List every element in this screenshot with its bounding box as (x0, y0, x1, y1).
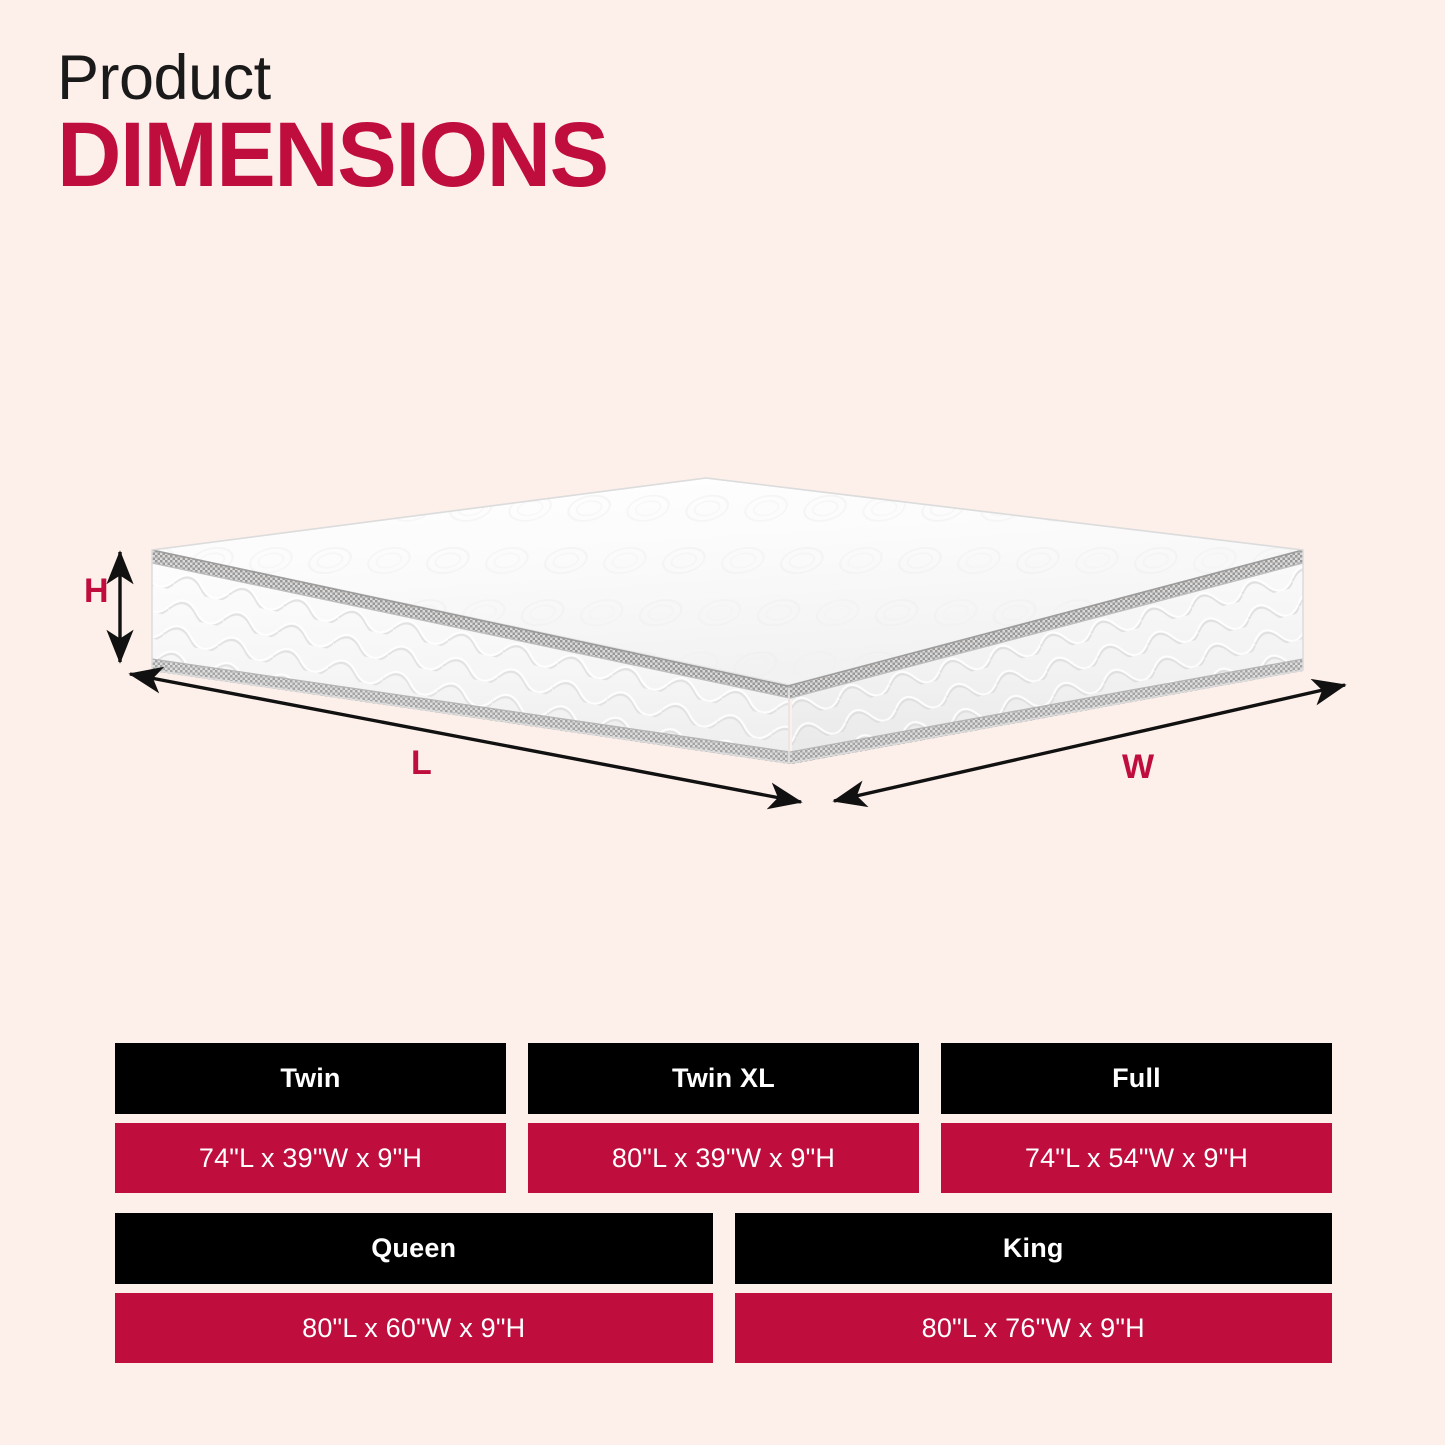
size-row-2: Queen 80"L x 60"W x 9"H King 80"L x 76"W… (115, 1213, 1332, 1363)
dimension-label-width: W (1122, 748, 1155, 787)
size-card-dimensions: 74"L x 39"W x 9"H (115, 1123, 506, 1193)
size-card-name: Twin (115, 1043, 506, 1114)
size-chart: Twin 74"L x 39"W x 9"H Twin XL 80"L x 39… (115, 1043, 1332, 1363)
size-card-king[interactable]: King 80"L x 76"W x 9"H (735, 1213, 1333, 1363)
mattress-illustration (0, 430, 1445, 870)
size-card-twin[interactable]: Twin 74"L x 39"W x 9"H (115, 1043, 506, 1193)
size-row-1: Twin 74"L x 39"W x 9"H Twin XL 80"L x 39… (115, 1043, 1332, 1193)
dimension-label-length: L (411, 744, 432, 783)
title-line-dimensions: DIMENSIONS (57, 108, 608, 202)
size-card-dimensions: 80"L x 76"W x 9"H (735, 1293, 1333, 1363)
page-title: Product DIMENSIONS (57, 44, 625, 202)
size-card-name: Full (941, 1043, 1332, 1114)
title-line-product: Product (57, 44, 625, 112)
size-card-queen[interactable]: Queen 80"L x 60"W x 9"H (115, 1213, 713, 1363)
size-card-name: Queen (115, 1213, 713, 1284)
size-card-full[interactable]: Full 74"L x 54"W x 9"H (941, 1043, 1332, 1193)
dimension-label-height: H (84, 572, 109, 611)
mattress-body (100, 460, 1418, 870)
size-card-dimensions: 80"L x 39"W x 9"H (528, 1123, 919, 1193)
size-card-dimensions: 80"L x 60"W x 9"H (115, 1293, 713, 1363)
size-card-name: King (735, 1213, 1333, 1284)
size-card-dimensions: 74"L x 54"W x 9"H (941, 1123, 1332, 1193)
size-card-name: Twin XL (528, 1043, 919, 1114)
size-card-twin-xl[interactable]: Twin XL 80"L x 39"W x 9"H (528, 1043, 919, 1193)
